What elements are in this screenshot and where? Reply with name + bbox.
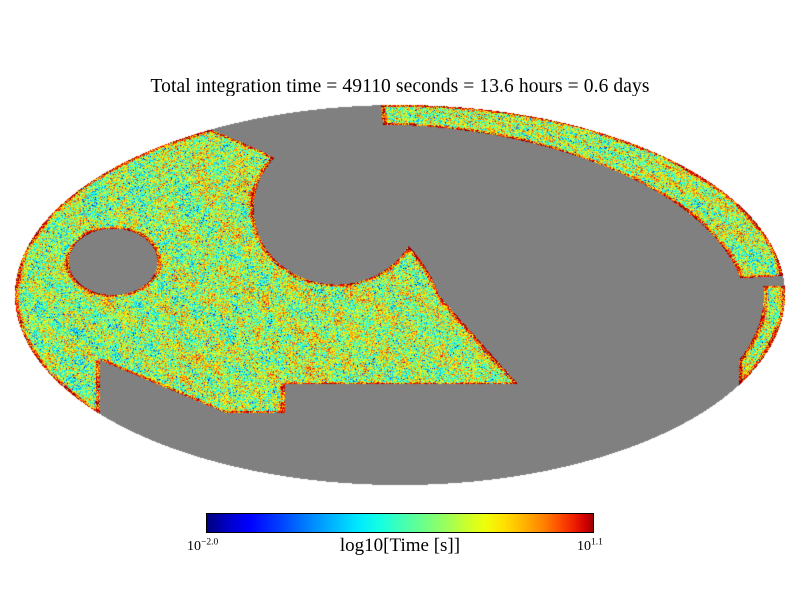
colorbar-min-base: 10 — [187, 539, 201, 554]
colorbar-max-label: 101.1 — [577, 539, 603, 555]
sky-map-mollweide — [0, 96, 800, 496]
colorbar-max-base: 10 — [577, 539, 591, 554]
colorbar-center-label: log10[Time [s]] — [206, 535, 594, 557]
colorbar-gradient — [206, 513, 594, 533]
colorbar-max-exponent: 1.1 — [591, 537, 603, 547]
colorbar: 10−2.0 log10[Time [s]] 101.1 — [206, 513, 594, 565]
page-title: Total integration time = 49110 seconds =… — [0, 76, 800, 98]
figure-canvas: Total integration time = 49110 seconds =… — [0, 0, 800, 600]
